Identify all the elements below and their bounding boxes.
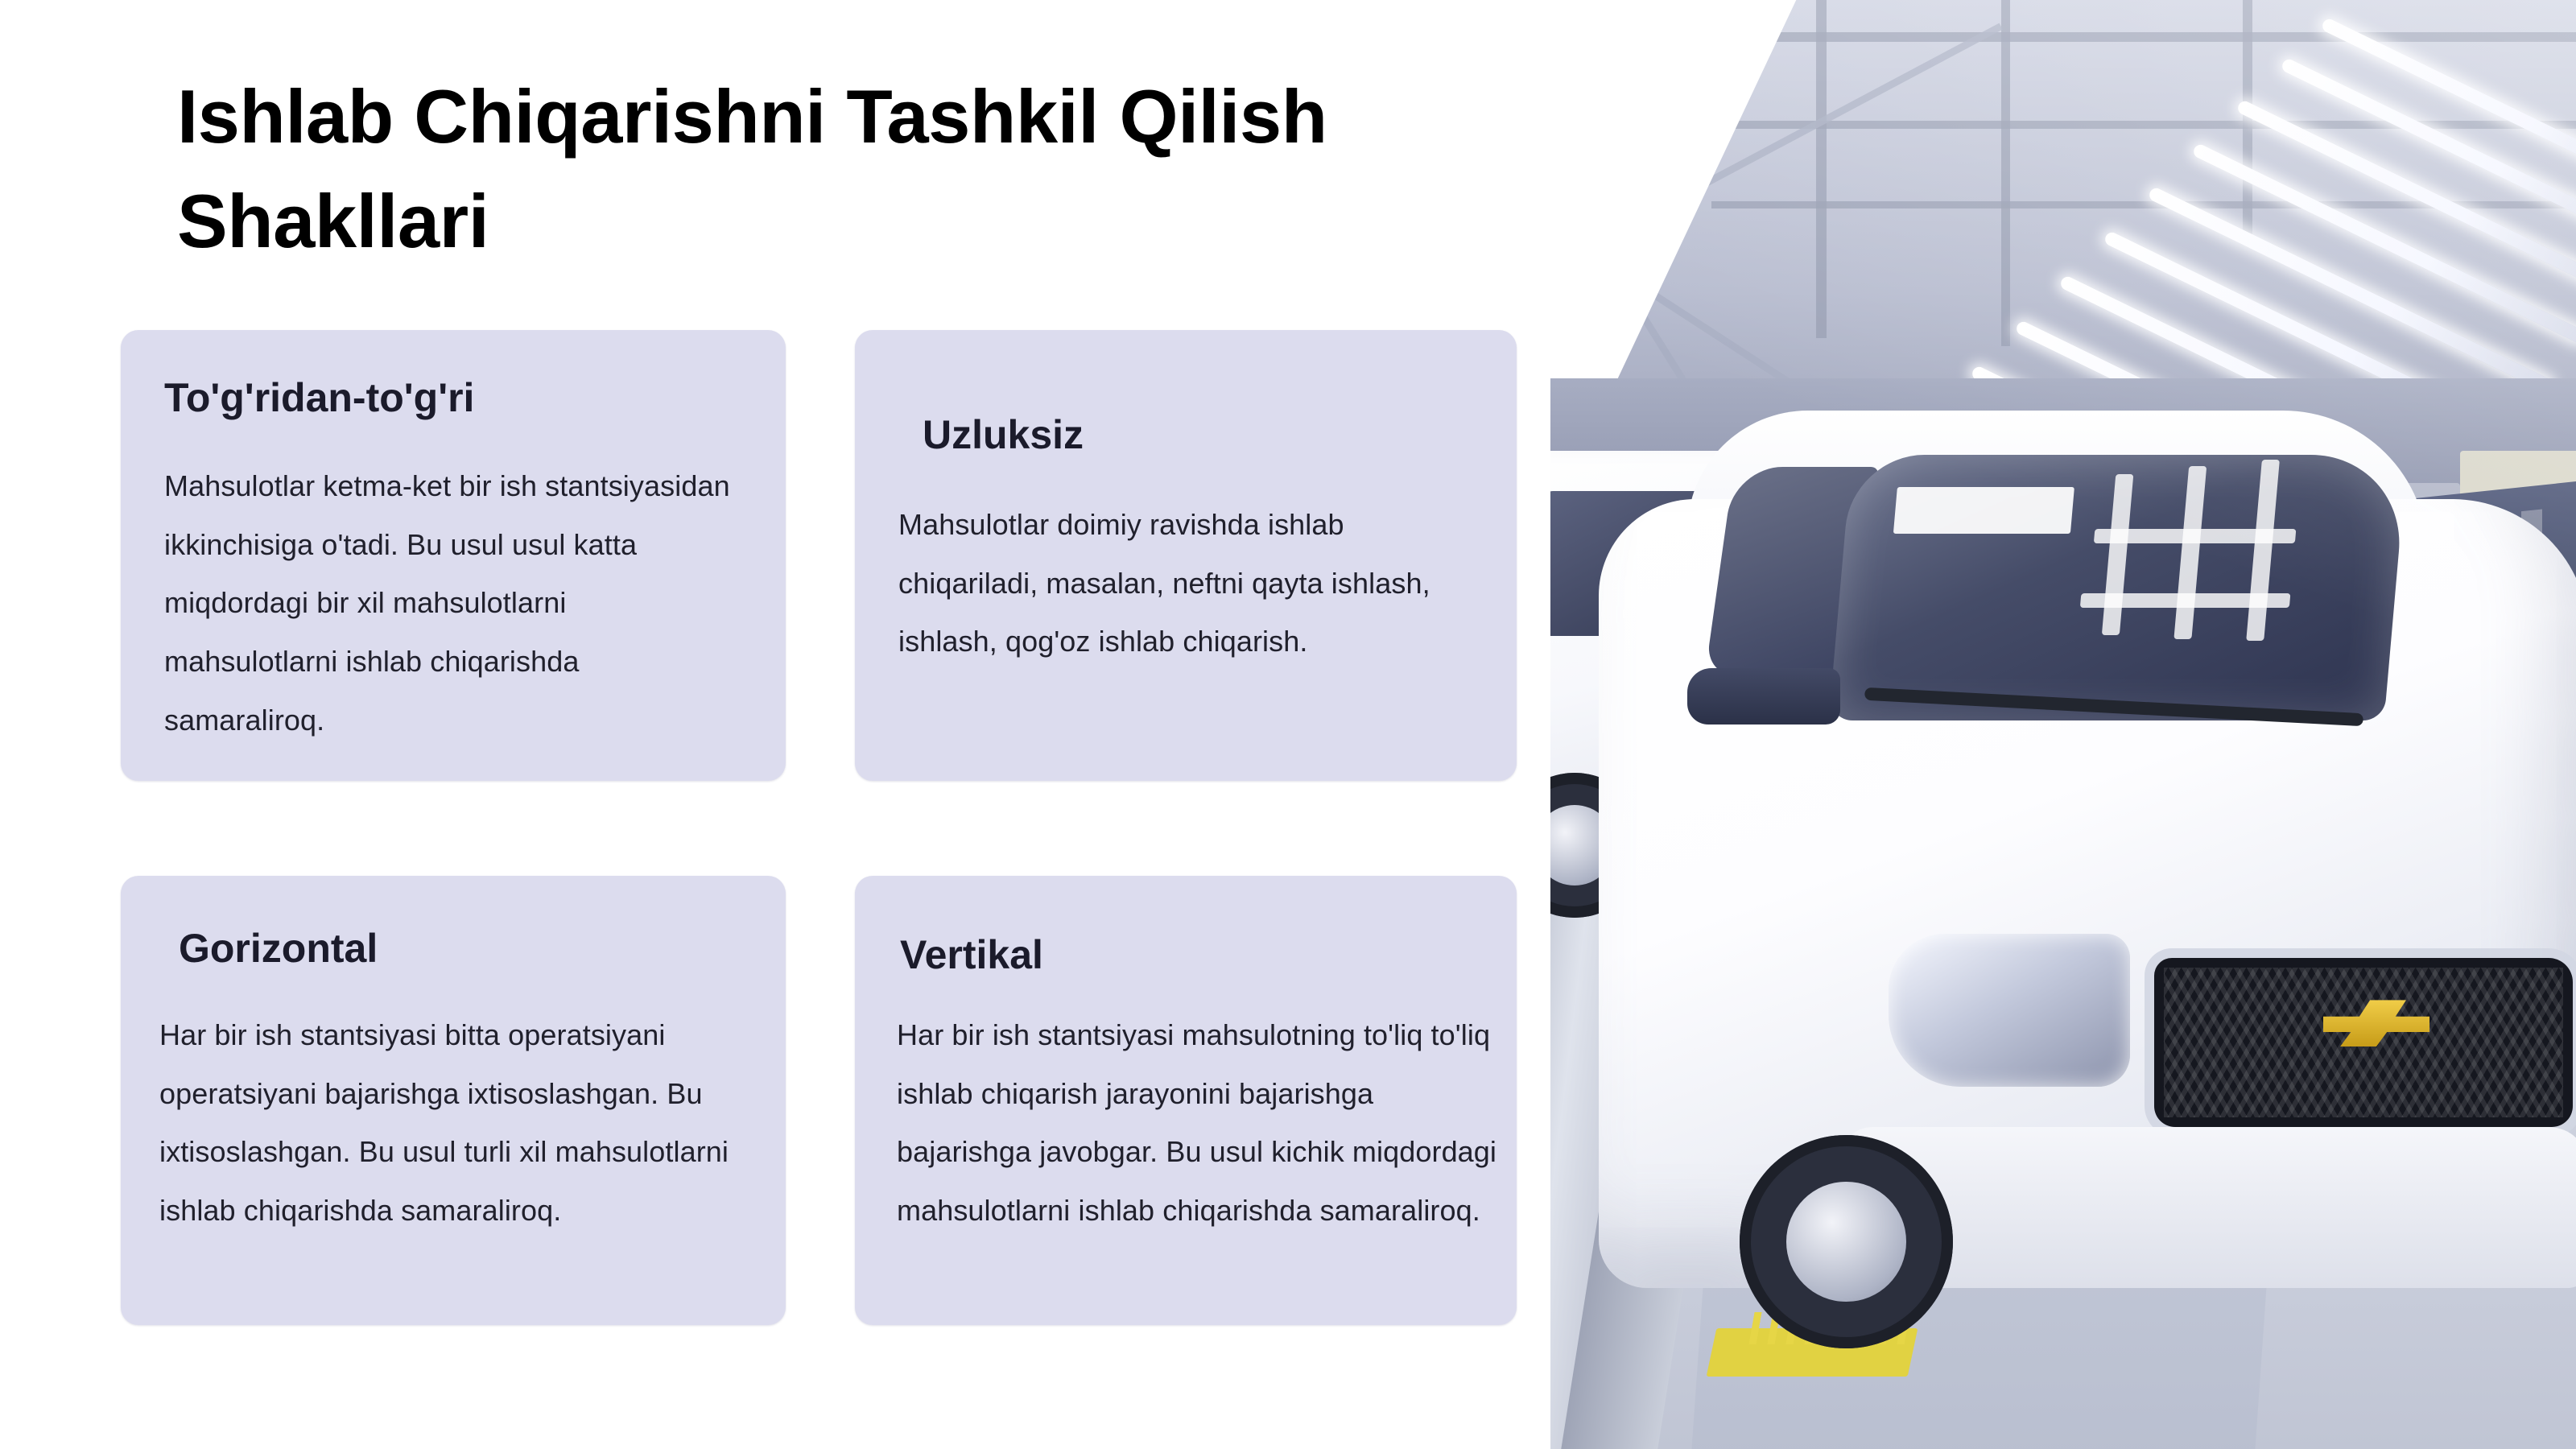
card-uzluksiz[interactable]: Uzluksiz Mahsulotlar doimiy ravishda ish… [855,330,1517,781]
ceiling-beam [1647,32,2576,42]
hero-car [1599,378,2576,1449]
card-togridan-heading: To'g'ridan-to'g'ri [164,374,474,422]
car-windshield [1829,455,2408,720]
card-uzluksiz-heading: Uzluksiz [923,411,1084,459]
card-vertikal[interactable]: Vertikal Har bir ish stantsiyasi mahsulo… [855,876,1517,1325]
ceiling-column [2001,0,2010,346]
windshield-reflection [2102,474,2133,635]
factory-assembly-line-image [1550,0,2576,1449]
card-vertikal-heading: Vertikal [900,931,1043,979]
content-pane: Ishlab Chiqarishni Tashkil Qilish Shakll… [0,0,1550,1449]
page-title: Ishlab Chiqarishni Tashkil Qilish Shakll… [177,64,1385,273]
card-uzluksiz-body: Mahsulotlar doimiy ravishda ishlab chiqa… [898,496,1491,671]
card-gorizontal[interactable]: Gorizontal Har bir ish stantsiyasi bitta… [121,876,786,1325]
windshield-reflection [2094,529,2297,543]
ceiling-column [1816,0,1827,338]
slide-canvas: Ishlab Chiqarishni Tashkil Qilish Shakll… [0,0,2576,1449]
card-vertikal-body: Har bir ish stantsiyasi mahsulotning to'… [897,1006,1509,1241]
windshield-reflection [2246,460,2280,641]
card-gorizontal-heading: Gorizontal [179,924,378,972]
ceiling-column [2243,0,2252,242]
windshield-reflection [2173,466,2207,639]
car-side-mirror [1687,668,1840,724]
windshield-reflection [2080,593,2291,608]
card-togridan[interactable]: To'g'ridan-to'g'ri Mahsulotlar ketma-ket… [121,330,786,781]
car-headlight [1889,934,2130,1087]
card-gorizontal-body: Har bir ish stantsiyasi bitta operatsiya… [159,1006,747,1241]
car-front-wheel [1740,1135,1953,1348]
card-togridan-body: Mahsulotlar ketma-ket bir ish stantsiyas… [164,457,744,750]
windshield-sticker [1893,487,2074,534]
